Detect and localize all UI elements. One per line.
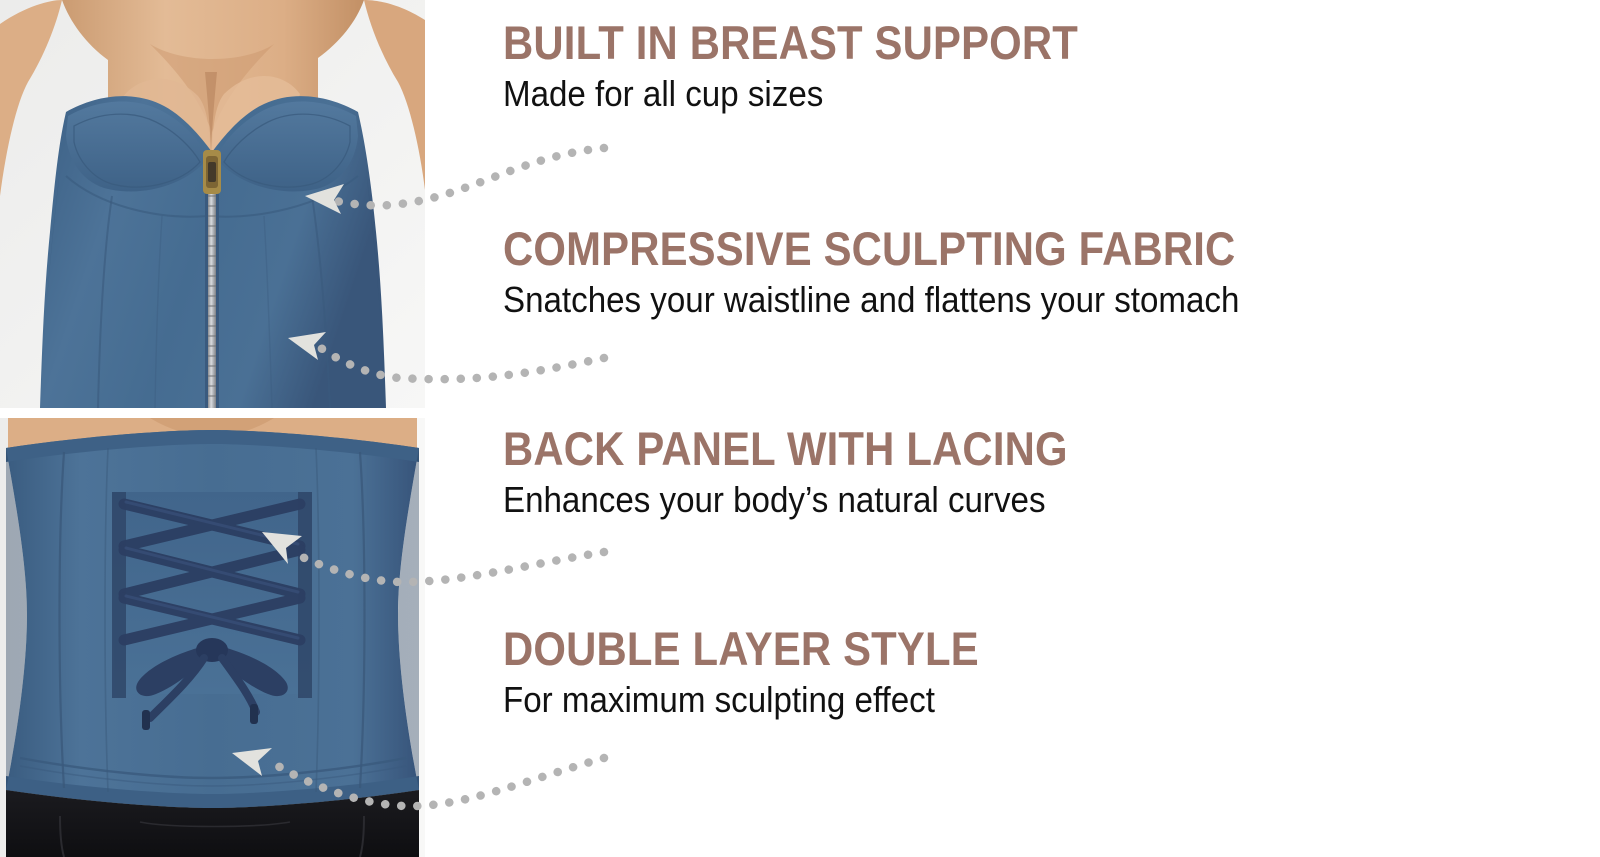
feature-subline: Made for all cup sizes: [503, 74, 1097, 114]
feature-subline: Snatches your waistline and flattens you…: [503, 280, 1260, 320]
photo-back-lacing: [0, 418, 425, 857]
feature-block-compressive-sculpting-fabric: COMPRESSIVE SCULPTING FABRIC Snatches yo…: [503, 224, 1326, 320]
photo-front-bustier: [0, 0, 425, 408]
feature-block-double-layer-style: DOUBLE LAYER STYLE For maximum sculpting…: [503, 624, 1038, 720]
feature-block-built-in-breast-support: BUILT IN BREAST SUPPORT Made for all cup…: [503, 18, 1149, 114]
feature-block-back-panel-with-lacing: BACK PANEL WITH LACING Enhances your bod…: [503, 424, 1138, 520]
feature-headline: BACK PANEL WITH LACING: [503, 424, 1068, 474]
feature-headline: BUILT IN BREAST SUPPORT: [503, 18, 1078, 68]
feature-subline: For maximum sculpting effect: [503, 680, 995, 720]
photo-column: [0, 0, 425, 857]
feature-subline: Enhances your body’s natural curves: [503, 480, 1087, 520]
product-feature-infographic: BUILT IN BREAST SUPPORT Made for all cup…: [0, 0, 1600, 857]
feature-headline: COMPRESSIVE SCULPTING FABRIC: [503, 224, 1235, 274]
feature-headline: DOUBLE LAYER STYLE: [503, 624, 979, 674]
